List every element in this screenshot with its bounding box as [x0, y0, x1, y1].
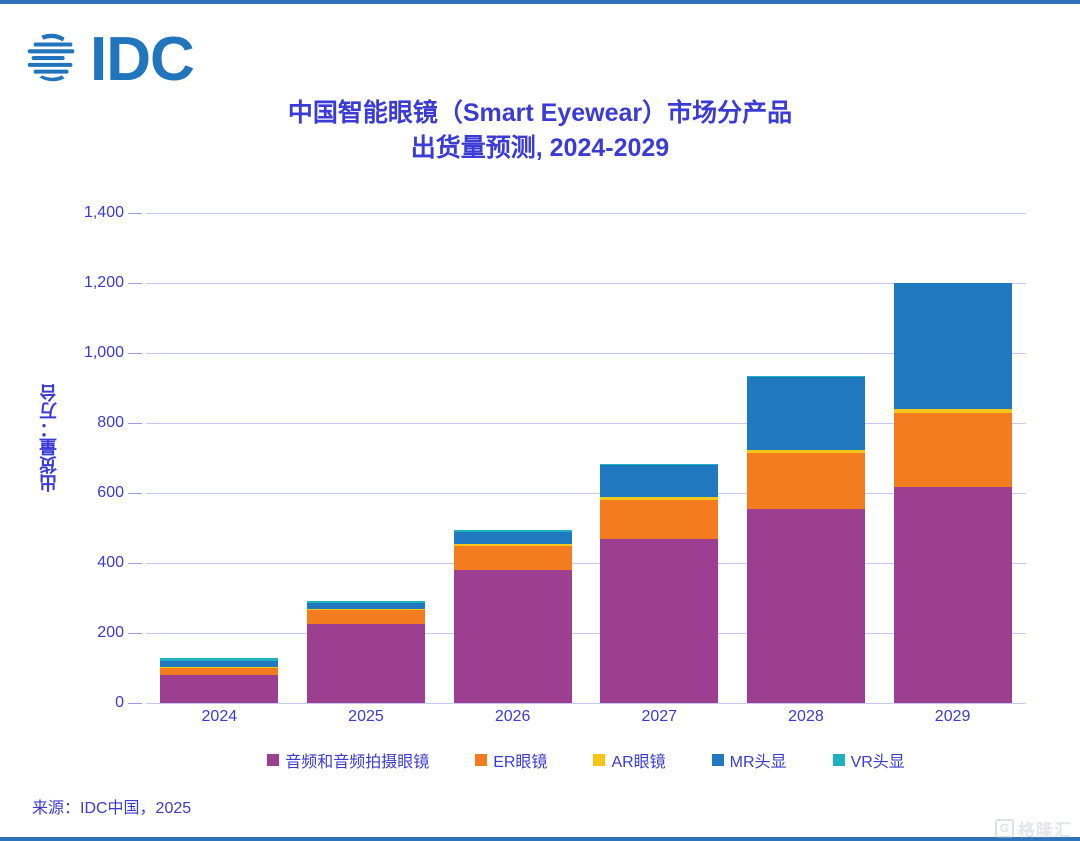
- gridline: [146, 703, 1026, 704]
- watermark: G 格隆汇: [995, 816, 1072, 841]
- y-axis-tick: 200: [97, 624, 146, 642]
- idc-globe-icon: [22, 26, 84, 93]
- bar-slot-2029: [880, 213, 1026, 703]
- bar-segment[interactable]: [894, 413, 1012, 487]
- legend-swatch: [833, 754, 845, 766]
- plot-area: 02004006008001,0001,2001,400: [146, 213, 1026, 703]
- legend-label: ER眼镜: [493, 748, 547, 772]
- bar-segment[interactable]: [747, 453, 865, 509]
- x-axis-labels: 202420252026202720282029: [146, 708, 1026, 726]
- bar-segment[interactable]: [307, 624, 425, 703]
- idc-wordmark: IDC: [90, 29, 194, 91]
- bar-slot-2028: [733, 213, 879, 703]
- x-axis-label-2028: 2028: [733, 708, 879, 726]
- bar-slot-2025: [293, 213, 439, 703]
- legend-label: MR头显: [730, 748, 787, 772]
- title-line-1: 中国智能眼镜（Smart Eyewear）市场分产品: [288, 99, 792, 127]
- x-axis-label-2025: 2025: [293, 708, 439, 726]
- source-note: 来源：IDC中国，2025: [32, 794, 191, 818]
- x-axis-label-2027: 2027: [586, 708, 732, 726]
- bar-segment[interactable]: [894, 487, 1012, 703]
- stacked-bar[interactable]: [747, 376, 865, 703]
- bar-segment[interactable]: [747, 509, 865, 703]
- bar-segment[interactable]: [747, 377, 865, 450]
- bar-segment[interactable]: [600, 539, 718, 703]
- stacked-bar[interactable]: [600, 464, 718, 703]
- legend-label: 音频和音频拍摄眼镜: [285, 748, 429, 772]
- legend-label: AR眼镜: [611, 748, 665, 772]
- chart-legend: 音频和音频拍摄眼镜ER眼镜AR眼镜MR头显VR头显: [146, 748, 1026, 772]
- y-axis-title: 出货量：万台: [36, 384, 62, 492]
- chart-frame: IDC 中国智能眼镜（Smart Eyewear）市场分产品 出货量预测, 20…: [0, 0, 1080, 841]
- stacked-bar[interactable]: [454, 530, 572, 703]
- watermark-text: 格隆汇: [1018, 816, 1072, 841]
- stacked-bar[interactable]: [160, 658, 278, 703]
- bar-segment[interactable]: [454, 570, 572, 703]
- y-axis-tick: 1,400: [84, 204, 146, 222]
- x-axis-label-2024: 2024: [146, 708, 292, 726]
- bar-series-layer: [146, 213, 1026, 703]
- bar-segment[interactable]: [160, 668, 278, 675]
- y-axis-tick: 0: [115, 694, 146, 712]
- y-axis-tick: 800: [97, 414, 146, 432]
- x-axis-label-2029: 2029: [880, 708, 1026, 726]
- legend-item[interactable]: AR眼镜: [593, 748, 665, 772]
- bar-segment[interactable]: [600, 500, 718, 540]
- y-axis-tick: 1,000: [84, 344, 146, 362]
- stacked-bar[interactable]: [307, 601, 425, 703]
- legend-item[interactable]: MR头显: [712, 748, 787, 772]
- stacked-bar[interactable]: [894, 283, 1012, 703]
- legend-label: VR头显: [851, 748, 905, 772]
- y-axis-tick: 400: [97, 554, 146, 572]
- legend-swatch: [712, 754, 724, 766]
- y-axis-tick: 1,200: [84, 274, 146, 292]
- idc-logo: IDC: [22, 26, 194, 93]
- page-title: 中国智能眼镜（Smart Eyewear）市场分产品 出货量预测, 2024-2…: [150, 96, 930, 166]
- bar-slot-2024: [146, 213, 292, 703]
- gelonghui-logo-icon: G: [995, 819, 1014, 838]
- title-line-2: 出货量预测, 2024-2029: [150, 131, 930, 166]
- x-axis-label-2026: 2026: [440, 708, 586, 726]
- bar-segment[interactable]: [307, 610, 425, 624]
- bar-segment[interactable]: [454, 532, 572, 544]
- legend-swatch: [593, 754, 605, 766]
- bar-segment[interactable]: [160, 675, 278, 703]
- legend-swatch: [267, 754, 279, 766]
- legend-item[interactable]: ER眼镜: [475, 748, 547, 772]
- bar-slot-2026: [440, 213, 586, 703]
- bar-segment[interactable]: [894, 283, 1012, 409]
- legend-item[interactable]: VR头显: [833, 748, 905, 772]
- bar-segment[interactable]: [454, 546, 572, 571]
- bar-segment[interactable]: [600, 465, 718, 497]
- y-axis-tick: 600: [97, 484, 146, 502]
- legend-item[interactable]: 音频和音频拍摄眼镜: [267, 748, 429, 772]
- legend-swatch: [475, 754, 487, 766]
- bar-slot-2027: [586, 213, 732, 703]
